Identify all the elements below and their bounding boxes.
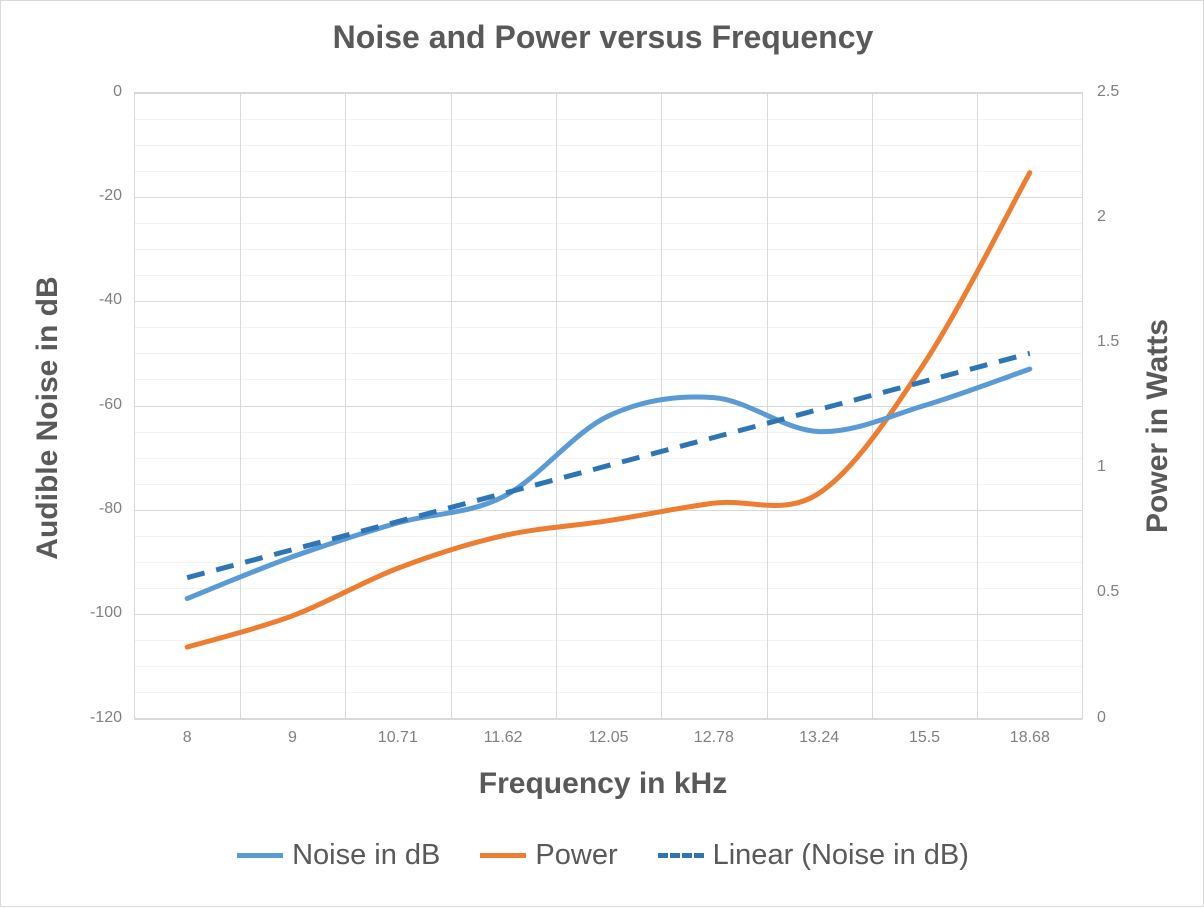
series-line-noise <box>187 369 1030 599</box>
y-axis-right-tick-label: 2.5 <box>1097 83 1167 101</box>
x-axis-tick-label: 15.5 <box>875 729 975 747</box>
legend-item-label: Linear (Noise in dB) <box>713 839 969 872</box>
x-axis-tick-label: 12.78 <box>664 729 764 747</box>
y-axis-right-tick-label: 0.5 <box>1097 583 1167 601</box>
y-axis-left-tick-label: 0 <box>36 83 122 101</box>
x-axis-tick-label: 9 <box>243 729 343 747</box>
series-line-trendline <box>187 353 1030 577</box>
x-axis-tick-label: 11.62 <box>453 729 553 747</box>
legend-item-label: Noise in dB <box>292 839 440 872</box>
legend-item[interactable]: Power <box>480 839 617 872</box>
y-axis-right-tick-label: 1 <box>1097 458 1167 476</box>
plot-area <box>1 1 1204 908</box>
y-axis-right-tick-label: 0 <box>1097 709 1167 727</box>
plot-border <box>135 93 1083 719</box>
x-axis-tick-label: 12.05 <box>559 729 659 747</box>
vertical-gridlines <box>241 93 978 719</box>
legend-item[interactable]: Linear (Noise in dB) <box>658 839 969 872</box>
chart-legend: Noise in dBPowerLinear (Noise in dB) <box>1 839 1204 872</box>
legend-item-label: Power <box>535 839 617 872</box>
y-axis-left-tick-label: -40 <box>36 291 122 309</box>
legend-swatch-icon <box>480 853 526 858</box>
legend-swatch-icon <box>237 853 283 858</box>
y-axis-right-tick-label: 2 <box>1097 208 1167 226</box>
y-axis-left-tick-label: -100 <box>36 604 122 622</box>
legend-item[interactable]: Noise in dB <box>237 839 440 872</box>
x-axis-tick-label: 8 <box>137 729 237 747</box>
y-axis-left-tick-label: -80 <box>36 500 122 518</box>
x-axis-tick-label: 13.24 <box>769 729 869 747</box>
x-axis-tick-label: 18.68 <box>980 729 1080 747</box>
major-gridlines <box>135 94 1083 720</box>
y-axis-left-tick-label: -60 <box>36 396 122 414</box>
y-axis-left-tick-label: -120 <box>36 709 122 727</box>
x-axis-tick-label: 10.71 <box>348 729 448 747</box>
y-axis-right-tick-label: 1.5 <box>1097 333 1167 351</box>
chart-container: Noise and Power versus Frequency Audible… <box>0 0 1204 907</box>
legend-swatch-icon <box>658 853 704 858</box>
y-axis-left-tick-label: -20 <box>36 187 122 205</box>
